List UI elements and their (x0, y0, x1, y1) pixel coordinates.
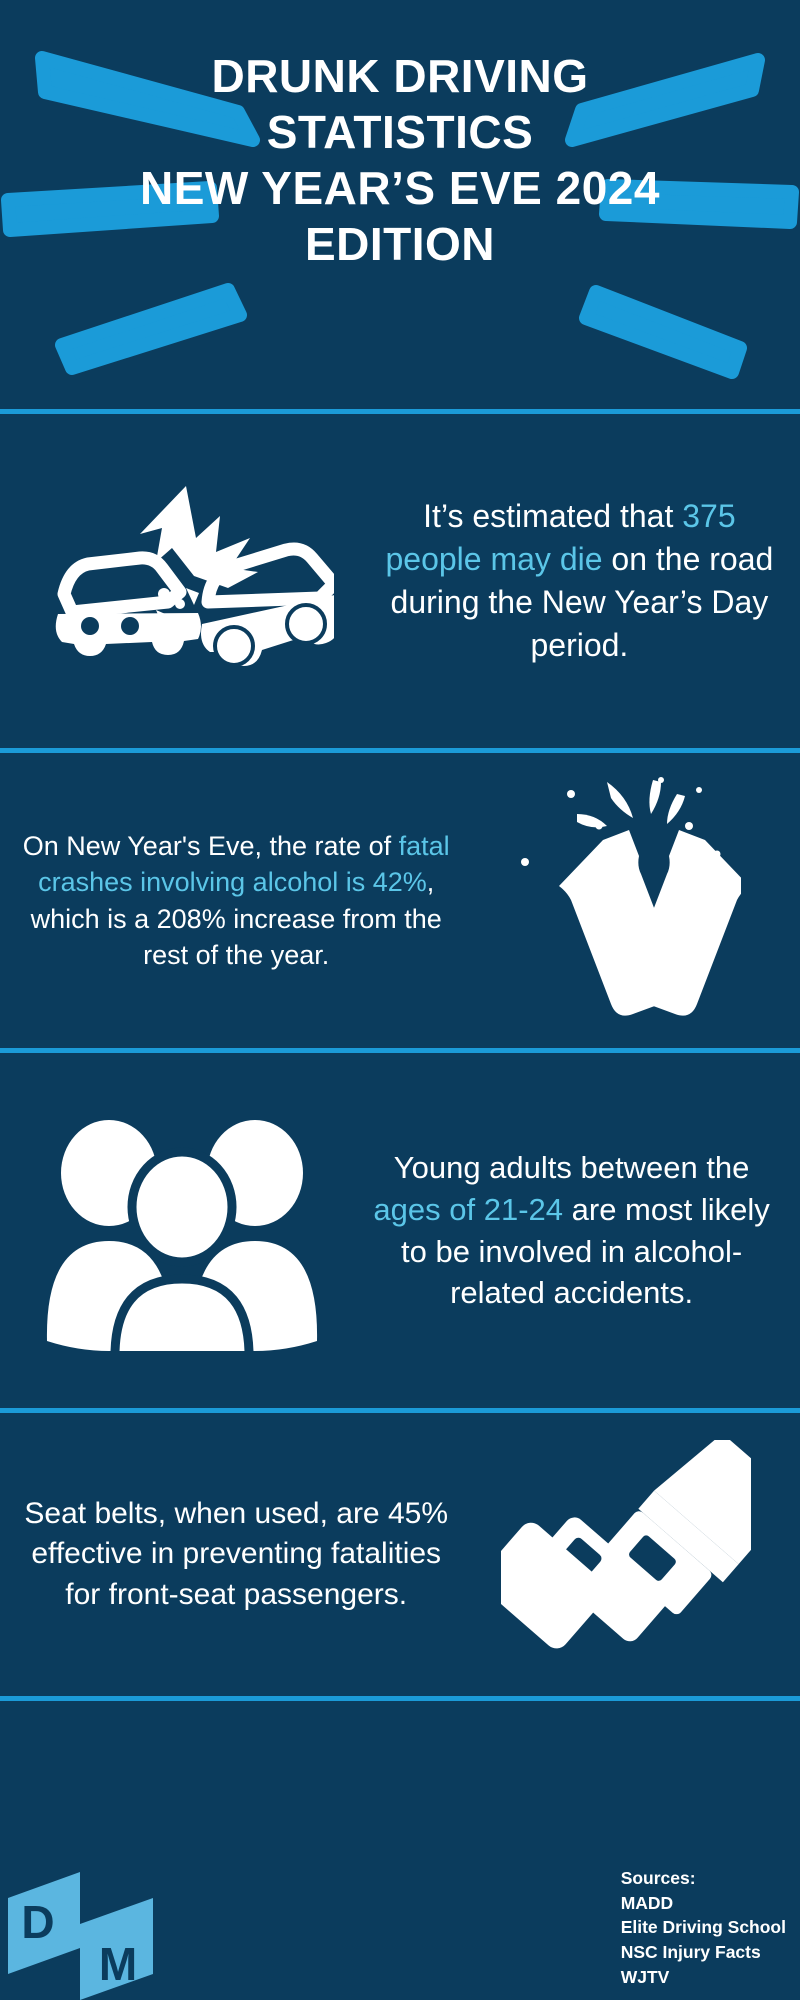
footer-section: D M Sources: MADD Elite Driving School N… (0, 1701, 800, 2000)
seat-belt-buckle-icon (501, 1440, 751, 1670)
source-item: MADD (621, 1891, 786, 1916)
source-item: WJTV (621, 1965, 786, 1990)
panel-art (10, 1111, 353, 1351)
title-line-3: NEW YEAR’S EVE 2024 (60, 160, 740, 216)
panel-text-plain-1: It’s estimated that (423, 498, 682, 534)
panel-fatalities: It’s estimated that 375 people may die o… (0, 414, 800, 748)
page-title: DRUNK DRIVING STATISTICS NEW YEAR’S EVE … (0, 0, 800, 272)
panel-text: Young adults between the ages of 21-24 a… (353, 1147, 790, 1313)
logo-letter-d: D (21, 1896, 54, 1948)
source-item: Elite Driving School (621, 1915, 786, 1940)
header-section: DRUNK DRIVING STATISTICS NEW YEAR’S EVE … (0, 0, 800, 409)
title-line-2: STATISTICS (60, 104, 740, 160)
panel-text-highlight-1: ages of 21-24 (373, 1192, 563, 1227)
panel-art (462, 1440, 790, 1670)
panel-text-plain-1: On New Year's Eve, the rate of (23, 831, 399, 861)
panel-text: On New Year's Eve, the rate of fatal cra… (10, 828, 462, 973)
panel-art (10, 476, 369, 686)
panel-text: It’s estimated that 375 people may die o… (369, 495, 790, 667)
panel-text: Seat belts, when used, are 45% effective… (10, 1494, 462, 1615)
title-line-1: DRUNK DRIVING (60, 48, 740, 104)
panel-text-plain-1: Young adults between the (394, 1150, 750, 1185)
group-of-people-icon (37, 1111, 327, 1351)
sources-block: Sources: MADD Elite Driving School NSC I… (621, 1866, 786, 1990)
car-crash-icon (44, 476, 334, 686)
panel-seat-belts: Seat belts, when used, are 45% effective… (0, 1413, 800, 1696)
source-item: NSC Injury Facts (621, 1940, 786, 1965)
title-line-4: EDITION (60, 216, 740, 272)
sources-label: Sources: (621, 1866, 786, 1891)
panel-fatal-crash-rate: On New Year's Eve, the rate of fatal cra… (0, 753, 800, 1048)
panel-art (462, 776, 790, 1026)
logo-letter-m: M (99, 1938, 137, 1990)
panel-text-plain-1: Seat belts, when used, are 45% effective… (24, 1497, 448, 1610)
clinking-bottles-icon (511, 776, 741, 1026)
panel-young-adults: Young adults between the ages of 21-24 a… (0, 1053, 800, 1408)
dm-logo: D M (8, 1872, 153, 2000)
infographic-root: DRUNK DRIVING STATISTICS NEW YEAR’S EVE … (0, 0, 800, 2000)
